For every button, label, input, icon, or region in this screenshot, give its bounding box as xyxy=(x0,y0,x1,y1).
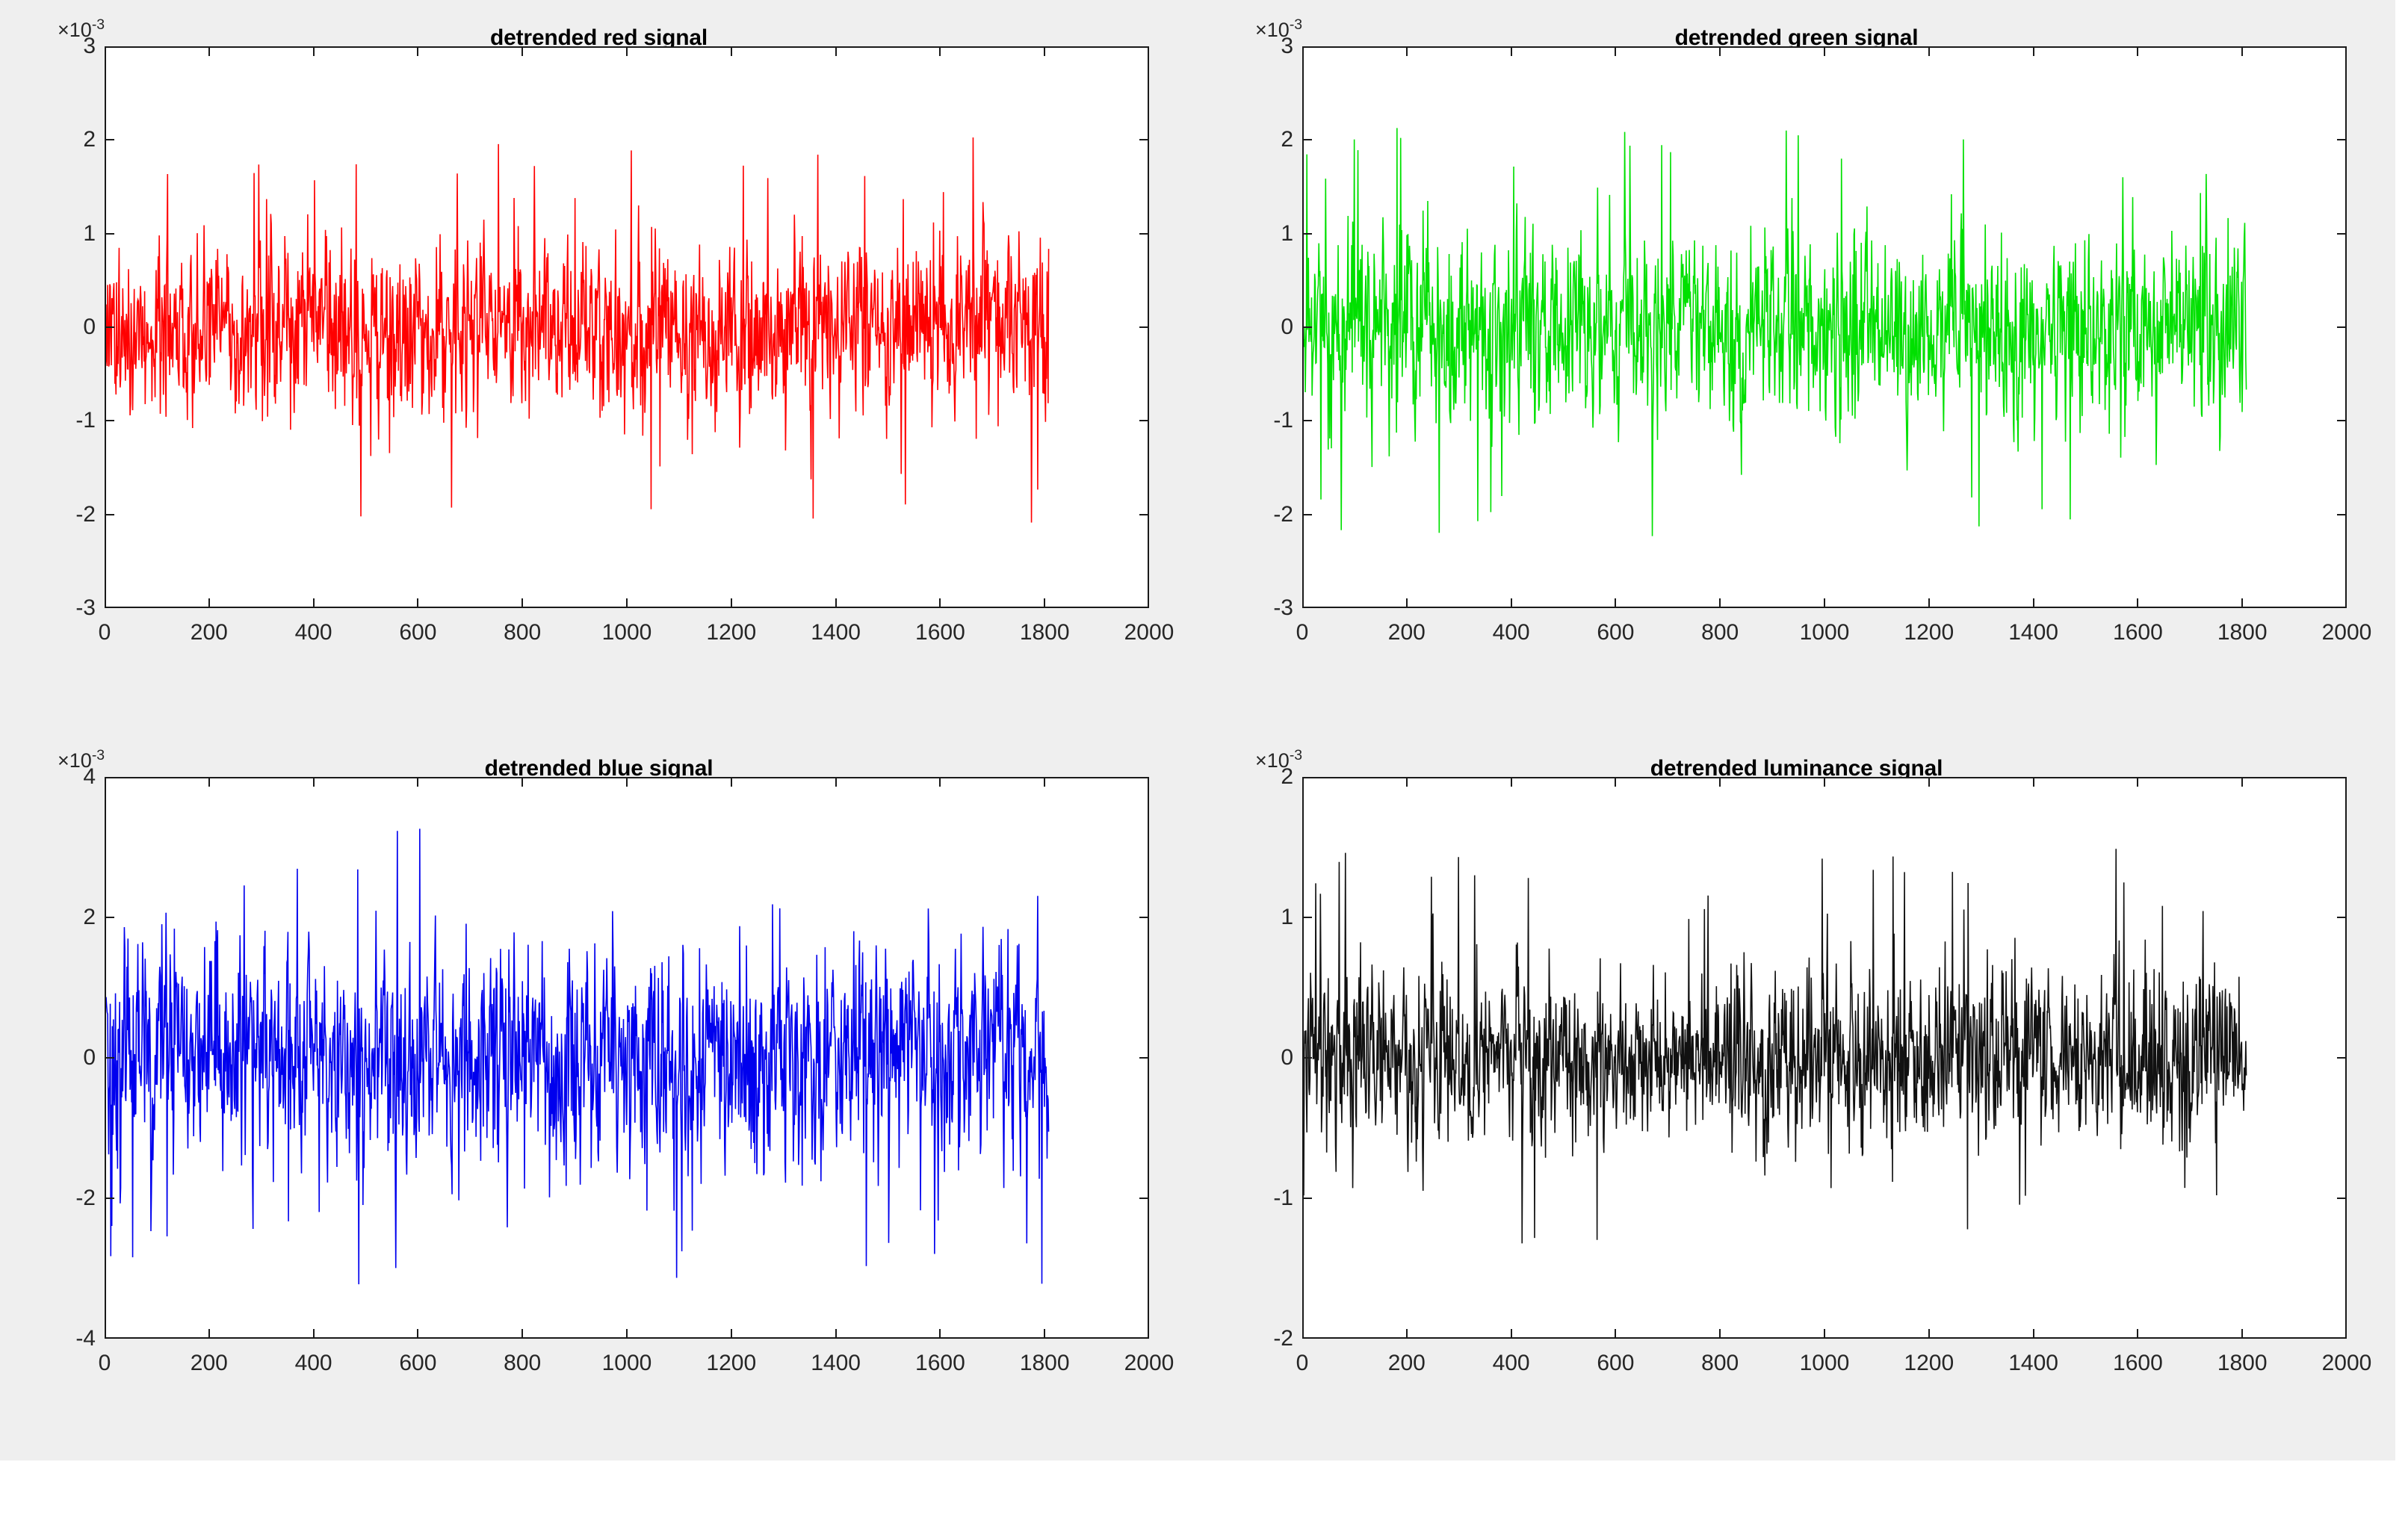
x-tick-mark xyxy=(2137,1329,2138,1339)
y-tick-mark xyxy=(1139,514,1149,515)
x-tick-mark xyxy=(1928,777,1930,787)
x-tick-mark xyxy=(313,598,315,608)
y-tick-label: 0 xyxy=(30,1045,96,1071)
x-tick-mark xyxy=(208,1329,210,1339)
subplot-detrended-red-signal: detrended red signal ×10-3 3210-1-2-3 02… xyxy=(0,0,1198,731)
x-tick-label: 1400 xyxy=(811,620,861,645)
x-tick-mark xyxy=(1044,1329,1045,1339)
x-tick-label: 1200 xyxy=(706,1351,756,1376)
x-tick-label: 200 xyxy=(191,620,228,645)
x-tick-mark xyxy=(939,777,941,787)
x-tick-label: 1800 xyxy=(1020,620,1070,645)
x-tick-label: 2000 xyxy=(1124,1351,1174,1376)
x-tick-label: 1600 xyxy=(915,1351,965,1376)
x-tick-label: 1200 xyxy=(1904,620,1954,645)
x-tick-mark xyxy=(1406,598,1408,608)
signal-path xyxy=(1304,849,2247,1243)
y-tick-mark xyxy=(1139,233,1149,235)
y-tick-mark xyxy=(1139,1057,1149,1059)
x-tick-mark xyxy=(731,1329,732,1339)
x-tick-mark xyxy=(835,598,837,608)
x-tick-label: 1000 xyxy=(1800,1351,1850,1376)
signal-trace-blue xyxy=(106,778,1148,1337)
x-tick-label: 2000 xyxy=(2322,620,2372,645)
x-tick-mark xyxy=(2033,46,2034,56)
x-tick-label: 1000 xyxy=(1800,620,1850,645)
y-tick-label: -4 xyxy=(30,1326,96,1351)
x-tick-label: 1800 xyxy=(2217,1351,2268,1376)
y-tick-mark xyxy=(1139,326,1149,328)
signal-path xyxy=(1304,128,2247,536)
y-tick-label: 2 xyxy=(1228,127,1293,152)
x-tick-mark xyxy=(313,46,315,56)
x-tick-label: 1600 xyxy=(2113,620,2163,645)
x-tick-mark xyxy=(1511,46,1512,56)
x-tick-mark xyxy=(1928,1329,1930,1339)
x-tick-mark xyxy=(521,777,523,787)
x-tick-label: 400 xyxy=(1493,620,1530,645)
x-tick-mark xyxy=(626,598,628,608)
x-tick-label: 1800 xyxy=(2217,620,2268,645)
y-tick-label: -2 xyxy=(1228,1326,1293,1351)
y-tick-label: -2 xyxy=(1228,502,1293,527)
matlab-figure-canvas: detrended red signal ×10-3 3210-1-2-3 02… xyxy=(0,0,2395,1460)
x-tick-label: 1800 xyxy=(1020,1351,1070,1376)
y-tick-label: -2 xyxy=(30,1186,96,1211)
x-tick-mark xyxy=(1824,598,1825,608)
x-tick-mark xyxy=(2241,46,2243,56)
y-tick-mark xyxy=(105,917,114,918)
y-tick-label: 2 xyxy=(30,905,96,930)
x-tick-mark xyxy=(2137,46,2138,56)
x-tick-label: 200 xyxy=(1388,620,1426,645)
x-tick-mark xyxy=(521,1329,523,1339)
x-tick-mark xyxy=(1615,777,1616,787)
y-tick-mark xyxy=(2337,420,2347,421)
y-tick-mark xyxy=(1302,1198,1312,1199)
x-tick-label: 1400 xyxy=(811,1351,861,1376)
x-tick-mark xyxy=(626,777,628,787)
y-tick-mark xyxy=(2337,233,2347,235)
subplot-detrended-green-signal: detrended green signal ×10-3 3210-1-2-3 … xyxy=(1198,0,2395,731)
y-tick-mark xyxy=(105,326,114,328)
x-tick-label: 1600 xyxy=(915,620,965,645)
y-tick-label: -1 xyxy=(1228,1186,1293,1211)
x-tick-mark xyxy=(939,1329,941,1339)
x-tick-label: 200 xyxy=(1388,1351,1426,1376)
x-tick-mark xyxy=(2137,598,2138,608)
x-tick-mark xyxy=(1824,46,1825,56)
x-tick-mark xyxy=(1719,46,1721,56)
y-tick-label: 2 xyxy=(1228,764,1293,790)
x-tick-label: 400 xyxy=(295,1351,332,1376)
x-tick-mark xyxy=(417,46,418,56)
x-tick-label: 800 xyxy=(1701,1351,1739,1376)
signal-trace-luminance xyxy=(1304,778,2345,1337)
x-tick-mark xyxy=(1719,598,1721,608)
x-tick-mark xyxy=(1719,777,1721,787)
y-tick-mark xyxy=(2337,1198,2347,1199)
x-tick-mark xyxy=(1824,1329,1825,1339)
y-tick-mark xyxy=(2337,139,2347,140)
x-tick-mark xyxy=(731,598,732,608)
y-tick-mark xyxy=(105,139,114,140)
x-tick-label: 2000 xyxy=(1124,620,1174,645)
y-tick-label: -1 xyxy=(30,408,96,433)
x-tick-mark xyxy=(1928,46,1930,56)
y-tick-mark xyxy=(1302,1057,1312,1059)
subplot-detrended-luminance-signal: detrended luminance signal ×10-3 210-1-2… xyxy=(1198,731,2395,1460)
x-tick-mark xyxy=(521,598,523,608)
x-tick-mark xyxy=(731,777,732,787)
x-tick-mark xyxy=(1615,46,1616,56)
x-tick-mark xyxy=(2137,777,2138,787)
y-tick-label: 4 xyxy=(30,764,96,790)
y-tick-mark xyxy=(1302,514,1312,515)
x-tick-label: 800 xyxy=(1701,620,1739,645)
x-tick-mark xyxy=(1511,598,1512,608)
y-tick-mark xyxy=(105,420,114,421)
subplot-detrended-blue-signal: detrended blue signal ×10-3 420-2-4 0200… xyxy=(0,731,1198,1460)
y-tick-mark xyxy=(2337,514,2347,515)
x-tick-label: 2000 xyxy=(2322,1351,2372,1376)
x-tick-mark xyxy=(2241,1329,2243,1339)
x-tick-mark xyxy=(1615,1329,1616,1339)
x-tick-mark xyxy=(1615,598,1616,608)
x-tick-label: 400 xyxy=(1493,1351,1530,1376)
y-tick-mark xyxy=(1302,139,1312,140)
x-tick-mark xyxy=(835,777,837,787)
x-tick-mark xyxy=(1511,777,1512,787)
x-tick-label: 0 xyxy=(99,620,111,645)
signal-trace-green xyxy=(1304,48,2345,607)
y-tick-label: -3 xyxy=(1228,595,1293,621)
x-tick-mark xyxy=(208,46,210,56)
plot-area xyxy=(105,777,1149,1339)
x-tick-label: 1000 xyxy=(602,620,652,645)
x-tick-mark xyxy=(521,46,523,56)
x-tick-mark xyxy=(939,46,941,56)
x-tick-label: 600 xyxy=(399,1351,436,1376)
x-tick-label: 0 xyxy=(99,1351,111,1376)
x-tick-mark xyxy=(2033,598,2034,608)
y-tick-mark xyxy=(105,1198,114,1199)
signal-path xyxy=(106,137,1049,522)
x-tick-label: 1000 xyxy=(602,1351,652,1376)
y-tick-mark xyxy=(1302,917,1312,918)
x-tick-label: 1200 xyxy=(1904,1351,1954,1376)
x-tick-mark xyxy=(731,46,732,56)
x-tick-label: 600 xyxy=(1597,620,1634,645)
x-tick-mark xyxy=(2241,777,2243,787)
y-tick-mark xyxy=(105,1057,114,1059)
y-tick-mark xyxy=(2337,1057,2347,1059)
x-tick-mark xyxy=(1406,777,1408,787)
y-tick-mark xyxy=(1302,233,1312,235)
x-tick-mark xyxy=(417,598,418,608)
x-tick-mark xyxy=(835,46,837,56)
x-tick-mark xyxy=(939,598,941,608)
x-tick-label: 1200 xyxy=(706,620,756,645)
x-tick-mark xyxy=(2033,1329,2034,1339)
x-tick-label: 1400 xyxy=(2008,620,2058,645)
x-tick-label: 400 xyxy=(295,620,332,645)
x-tick-label: 600 xyxy=(399,620,436,645)
x-tick-mark xyxy=(1824,777,1825,787)
y-tick-label: 1 xyxy=(1228,221,1293,247)
x-tick-mark xyxy=(835,1329,837,1339)
x-tick-mark xyxy=(417,1329,418,1339)
y-tick-label: 0 xyxy=(30,315,96,340)
plot-area xyxy=(1302,46,2347,608)
y-tick-mark xyxy=(2337,917,2347,918)
y-tick-label: 3 xyxy=(30,34,96,59)
x-tick-label: 800 xyxy=(504,1351,541,1376)
x-tick-mark xyxy=(1928,598,1930,608)
y-tick-mark xyxy=(1302,420,1312,421)
signal-path xyxy=(106,828,1049,1284)
y-tick-label: 3 xyxy=(1228,34,1293,59)
x-tick-label: 800 xyxy=(504,620,541,645)
x-tick-label: 200 xyxy=(191,1351,228,1376)
y-tick-label: 1 xyxy=(30,221,96,247)
y-tick-mark xyxy=(2337,326,2347,328)
x-tick-mark xyxy=(1044,598,1045,608)
y-tick-mark xyxy=(105,514,114,515)
signal-trace-red xyxy=(106,48,1148,607)
x-tick-label: 0 xyxy=(1296,620,1309,645)
y-tick-label: 0 xyxy=(1228,315,1293,340)
x-tick-mark xyxy=(2241,598,2243,608)
x-tick-mark xyxy=(417,777,418,787)
y-tick-label: 2 xyxy=(30,127,96,152)
y-tick-label: 0 xyxy=(1228,1045,1293,1071)
x-tick-mark xyxy=(1719,1329,1721,1339)
x-tick-mark xyxy=(313,777,315,787)
y-tick-mark xyxy=(1302,326,1312,328)
x-tick-mark xyxy=(208,598,210,608)
plot-area xyxy=(105,46,1149,608)
y-tick-label: -2 xyxy=(30,502,96,527)
x-tick-mark xyxy=(313,1329,315,1339)
x-tick-mark xyxy=(1406,46,1408,56)
x-tick-mark xyxy=(1044,777,1045,787)
y-tick-mark xyxy=(1139,420,1149,421)
x-tick-mark xyxy=(1406,1329,1408,1339)
x-tick-mark xyxy=(626,46,628,56)
x-tick-mark xyxy=(1044,46,1045,56)
y-tick-mark xyxy=(1139,917,1149,918)
x-tick-label: 1400 xyxy=(2008,1351,2058,1376)
y-tick-label: 1 xyxy=(1228,905,1293,930)
y-tick-label: -1 xyxy=(1228,408,1293,433)
x-tick-label: 0 xyxy=(1296,1351,1309,1376)
x-tick-mark xyxy=(626,1329,628,1339)
y-tick-mark xyxy=(105,233,114,235)
y-tick-label: -3 xyxy=(30,595,96,621)
x-tick-mark xyxy=(208,777,210,787)
x-tick-mark xyxy=(1511,1329,1512,1339)
y-tick-mark xyxy=(1139,139,1149,140)
x-tick-mark xyxy=(2033,777,2034,787)
x-tick-label: 600 xyxy=(1597,1351,1634,1376)
plot-area xyxy=(1302,777,2347,1339)
x-tick-label: 1600 xyxy=(2113,1351,2163,1376)
y-tick-mark xyxy=(1139,1198,1149,1199)
